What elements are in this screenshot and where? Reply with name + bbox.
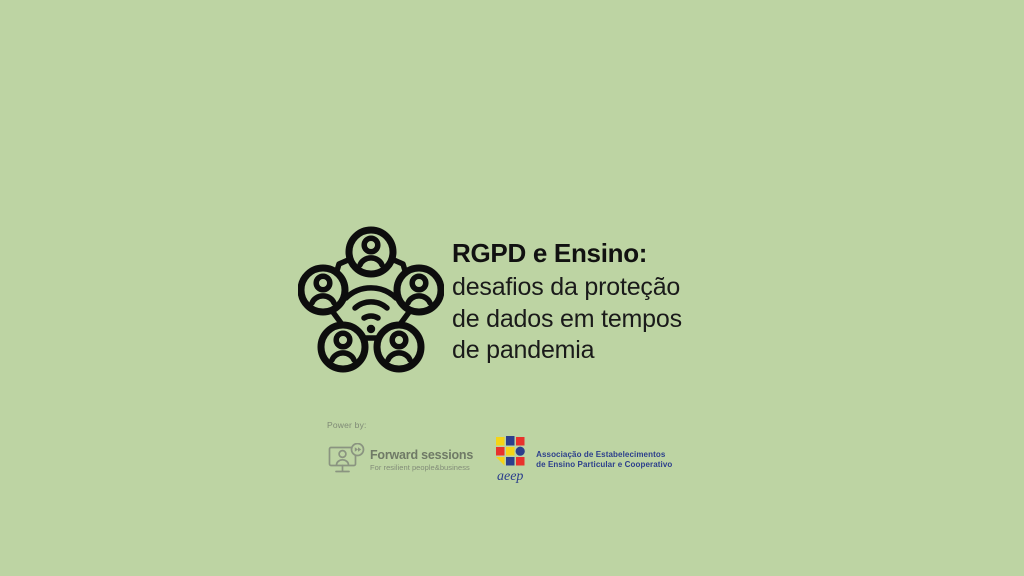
person-node-upper-left xyxy=(301,268,345,312)
aeep-squares-mark: aeep xyxy=(495,436,527,484)
wifi-dot xyxy=(367,325,375,333)
presentation-slide: RGPD e Ensino: desafios da proteção de d… xyxy=(0,0,1024,576)
forward-sessions-tagline: For resilient people&business xyxy=(370,464,473,472)
aeep-full-name: Associação de Estabelecimentos de Ensino… xyxy=(536,450,672,470)
title-block: RGPD e Ensino: desafios da proteção de d… xyxy=(298,222,682,376)
aeep-wordmark: aeep xyxy=(497,469,523,484)
forward-sessions-name: Forward sessions xyxy=(370,449,473,462)
subtitle-line-1: desafios da proteção xyxy=(452,272,682,304)
wifi-icon xyxy=(346,288,396,318)
aeep-logo: aeep Associação de Estabelecimentos de E… xyxy=(495,436,672,484)
forward-sessions-wordmark: Forward sessions For resilient people&bu… xyxy=(370,449,473,471)
forward-sessions-logo: Forward sessions For resilient people&bu… xyxy=(327,443,473,477)
page-title: RGPD e Ensino: xyxy=(452,240,682,267)
title-text-group: RGPD e Ensino: desafios da proteção de d… xyxy=(452,222,682,367)
person-node-lower-left xyxy=(321,325,365,369)
person-node-upper-right xyxy=(397,268,441,312)
power-by-label: Power by: xyxy=(327,420,727,430)
subtitle-line-3: de pandemia xyxy=(452,335,682,367)
monitor-person-fastforward-icon xyxy=(327,443,367,477)
credits-block: Power by: xyxy=(327,420,727,484)
aeep-name-line-2: de Ensino Particular e Cooperativo xyxy=(536,460,672,470)
aeep-name-line-1: Associação de Estabelecimentos xyxy=(536,450,672,460)
person-node-lower-right xyxy=(377,325,421,369)
person-node-top xyxy=(349,230,393,274)
subtitle-line-2: de dados em tempos xyxy=(452,304,682,336)
sponsor-logos-row: Forward sessions For resilient people&bu… xyxy=(327,436,727,484)
network-of-people-wifi-icon xyxy=(298,226,444,376)
